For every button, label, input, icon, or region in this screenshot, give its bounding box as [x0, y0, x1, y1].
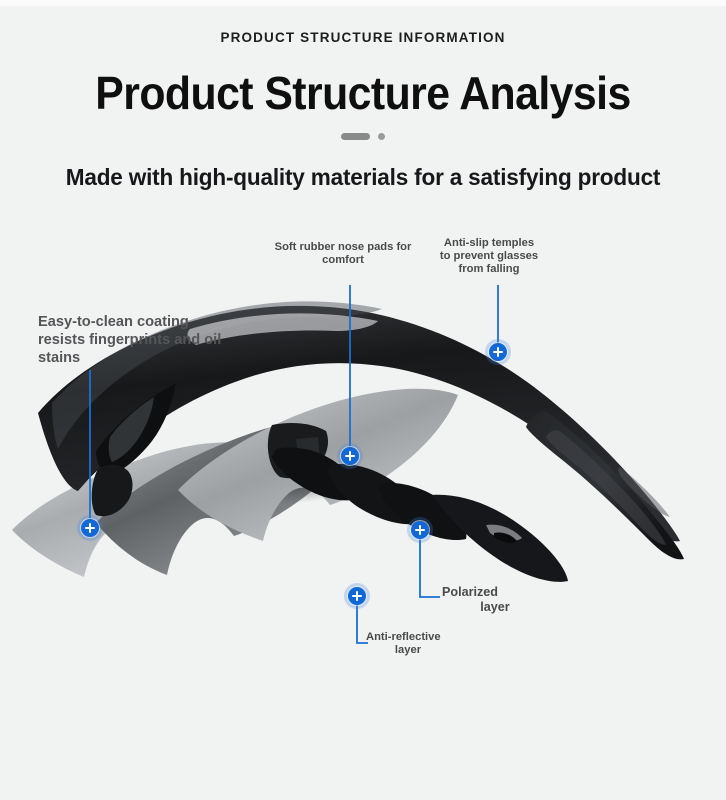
- page-header: PRODUCT STRUCTURE INFORMATION Product St…: [0, 0, 726, 191]
- annotation-line: Anti-reflective: [366, 631, 466, 644]
- page-subtitle: Made with high-quality materials for a s…: [15, 164, 712, 191]
- marker-nose-pads[interactable]: [337, 443, 363, 469]
- marker-easy-clean-coating[interactable]: [77, 515, 103, 541]
- annotation-line: Anti-slip temples: [432, 237, 546, 250]
- annotation-anti-reflective-layer: Anti-reflective layer: [366, 631, 466, 657]
- marker-polarized-layer[interactable]: [407, 517, 433, 543]
- eyebrow-label: PRODUCT STRUCTURE INFORMATION: [0, 30, 726, 45]
- plus-circle-icon: [489, 343, 507, 361]
- annotation-line: Polarized: [442, 585, 552, 600]
- annotation-line: stains: [38, 349, 283, 367]
- annotation-polarized-layer: Polarized layer: [442, 585, 552, 615]
- annotation-line: resists fingerprints and oil: [38, 331, 283, 349]
- annotation-line: layer: [442, 600, 552, 615]
- annotation-line: Easy-to-clean coating: [38, 313, 283, 331]
- marker-anti-reflective-layer[interactable]: [344, 583, 370, 609]
- annotation-line: from falling: [432, 263, 546, 276]
- product-illustration: [0, 225, 726, 725]
- annotation-line: layer: [366, 644, 466, 657]
- plus-circle-icon: [411, 521, 429, 539]
- pagination-dot-active[interactable]: [341, 133, 370, 140]
- annotation-line: comfort: [268, 254, 418, 267]
- page-title: Product Structure Analysis: [25, 67, 700, 119]
- product-structure-page: PRODUCT STRUCTURE INFORMATION Product St…: [0, 0, 726, 800]
- annotation-anti-slip-temples: Anti-slip temples to prevent glasses fro…: [432, 237, 546, 276]
- plus-circle-icon: [341, 447, 359, 465]
- plus-circle-icon: [81, 519, 99, 537]
- annotation-nose-pads: Soft rubber nose pads for comfort: [268, 241, 418, 267]
- marker-anti-slip-temples[interactable]: [485, 339, 511, 365]
- annotation-easy-clean-coating: Easy-to-clean coating resists fingerprin…: [38, 313, 283, 367]
- annotation-line: to prevent glasses: [432, 250, 546, 263]
- pagination-dot-inactive[interactable]: [378, 133, 385, 140]
- pagination-indicator[interactable]: [0, 133, 726, 140]
- annotation-line: Soft rubber nose pads for: [268, 241, 418, 254]
- plus-circle-icon: [348, 587, 366, 605]
